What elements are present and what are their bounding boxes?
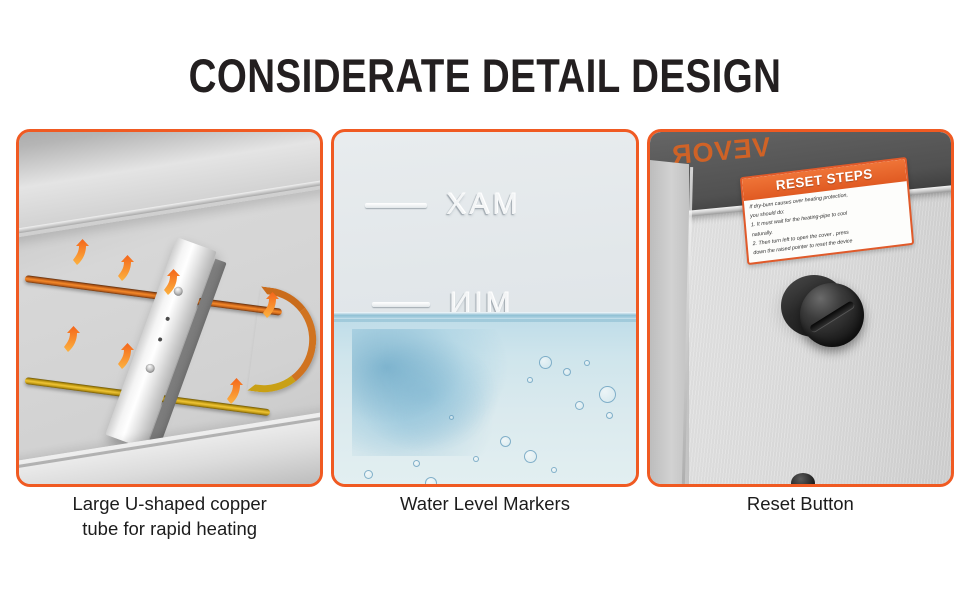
bubble — [500, 436, 511, 447]
bracket-dot — [165, 316, 170, 321]
bubble — [551, 467, 557, 473]
panel-heating-tube-image — [19, 132, 320, 484]
panel-reset-button: VEVOR RESET STEPS If dry-burn causes ove… — [647, 129, 954, 487]
caption-line: tube for rapid heating — [16, 517, 323, 542]
bubble — [524, 450, 537, 463]
panel-row: MAX MIN — [16, 129, 954, 487]
water-surface-line — [334, 312, 635, 318]
caption-reset-button: Reset Button — [647, 492, 954, 542]
caption-heating-tube: Large U-shaped copper tube for rapid hea… — [16, 492, 323, 542]
max-level-marker: MAX — [443, 188, 517, 222]
max-marker-dash — [365, 204, 427, 208]
heat-rise-arrow-icon — [73, 239, 90, 265]
caption-water-level: Water Level Markers — [331, 492, 638, 542]
heat-rise-arrow-icon — [118, 255, 135, 281]
heat-rise-arrow-icon — [227, 378, 244, 404]
caption-line: Large U-shaped copper — [16, 492, 323, 517]
bubble — [449, 415, 454, 420]
bubble — [425, 477, 437, 484]
water-splash — [352, 329, 509, 457]
caption-line: Water Level Markers — [331, 492, 638, 517]
heat-rise-arrow-icon — [164, 269, 181, 295]
bubble — [606, 412, 613, 419]
heat-rise-arrow-icon — [263, 292, 280, 318]
page-title: CONSIDERATE DETAIL DESIGN — [87, 50, 882, 102]
bubble — [563, 368, 571, 376]
panel-water-level: MAX MIN — [331, 129, 638, 487]
bracket-rivet — [144, 362, 156, 374]
infographic-page: CONSIDERATE DETAIL DESIGN — [0, 0, 970, 600]
bubble — [539, 356, 552, 369]
bubble — [413, 460, 420, 467]
bubble — [599, 386, 616, 403]
bubble — [527, 377, 533, 383]
panel-reset-button-image: VEVOR RESET STEPS If dry-burn causes ove… — [650, 132, 951, 484]
max-marker-label: MAX — [443, 188, 517, 222]
caption-row: Large U-shaped copper tube for rapid hea… — [16, 492, 954, 542]
heat-rise-arrow-icon — [64, 326, 81, 352]
heat-rise-arrow-icon — [118, 343, 135, 369]
water-surface-line-secondary — [334, 319, 635, 322]
caption-line: Reset Button — [647, 492, 954, 517]
panel-water-level-image: MAX MIN — [334, 132, 635, 484]
reset-knob-slot-icon — [809, 300, 855, 332]
panel-heating-tube — [16, 129, 323, 487]
bubble — [575, 401, 584, 410]
bracket-dot — [157, 337, 162, 342]
bubble — [364, 470, 373, 479]
min-marker-dash — [372, 303, 430, 307]
water-body — [334, 312, 635, 484]
bubble — [473, 456, 479, 462]
bubble — [584, 360, 590, 366]
